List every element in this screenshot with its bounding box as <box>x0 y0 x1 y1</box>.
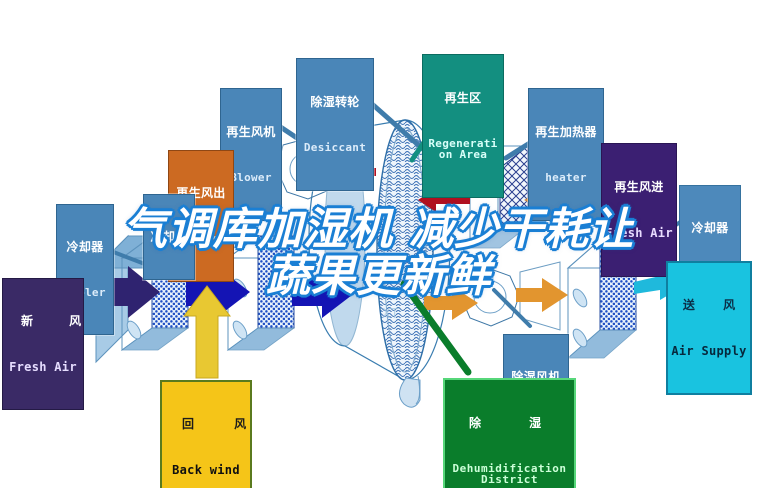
label-fresh-air-regen-en: Fresh Air <box>604 227 674 240</box>
label-regen-blower-cn: 再生风机 <box>223 126 279 139</box>
label-heater[interactable]: 再生加热器 heater <box>528 88 604 221</box>
label-dehum-area-cn: 除 湿 区 <box>447 417 572 430</box>
label-regen-area[interactable]: 再生区 Regenerati on Area <box>422 54 504 198</box>
label-air-supply[interactable]: 送 风 Air Supply <box>666 261 752 395</box>
label-regen-area-en: Regenerati on Area <box>425 138 501 161</box>
label-back-wind-cn: 回 风 <box>164 418 248 431</box>
label-air-supply-en: Air Supply <box>670 345 748 358</box>
label-cooler-right-cn: 冷却器 <box>682 222 738 235</box>
label-heater-en: heater <box>531 172 601 184</box>
label-cooler-mid-cn: 冷却器 <box>146 231 192 244</box>
dehum-blower <box>461 268 519 326</box>
label-desiccant-cn: 除湿转轮 <box>299 96 371 109</box>
label-dehum-area[interactable]: 除 湿 区 Dehumidification District <box>443 378 576 488</box>
label-fresh-air-regen[interactable]: 再生风进 Fresh Air <box>601 143 677 277</box>
label-heater-cn: 再生加热器 <box>531 126 601 139</box>
label-fresh-air-cn: 新 风 <box>5 315 81 328</box>
label-desiccant-en: Desiccant <box>299 142 371 154</box>
label-desiccant[interactable]: 除湿转轮 Desiccant <box>296 58 374 191</box>
label-back-wind[interactable]: 回 风 Back wind <box>160 380 252 488</box>
label-air-supply-cn: 送 风 <box>670 299 748 312</box>
label-cooler-mid[interactable]: 冷却器 <box>143 194 195 280</box>
dehumidifier-diagram: XT <box>0 0 757 488</box>
label-regen-area-cn: 再生区 <box>425 92 501 105</box>
label-fresh-air[interactable]: 新 风 Fresh Air <box>2 278 84 410</box>
label-dehum-area-en: Dehumidification District <box>447 463 572 486</box>
label-cooler-left-cn: 冷却器 <box>59 241 111 254</box>
label-fresh-air-en: Fresh Air <box>5 361 81 374</box>
label-fresh-air-regen-cn: 再生风进 <box>604 181 674 194</box>
svg-text:XT: XT <box>382 307 399 322</box>
label-back-wind-en: Back wind <box>164 464 248 477</box>
